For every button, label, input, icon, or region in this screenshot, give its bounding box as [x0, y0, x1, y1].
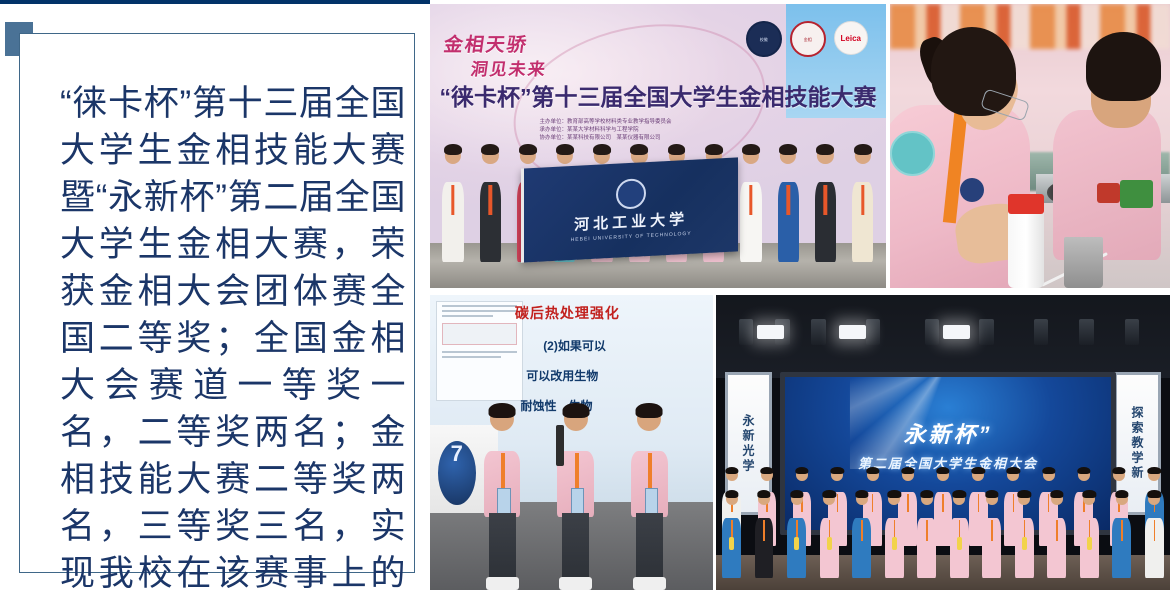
person-figure — [1078, 493, 1100, 579]
person-figure — [883, 493, 905, 579]
person-figure — [981, 493, 1003, 579]
microphone-icon — [556, 425, 564, 466]
person-figure — [1143, 493, 1165, 579]
person-figure — [721, 493, 743, 579]
person-figure — [737, 147, 765, 262]
backdrop-slogan-line2: 洞见未来 — [469, 55, 549, 80]
photo-sample-preparation[interactable] — [890, 4, 1170, 288]
stage-light-beam — [839, 325, 866, 340]
crowd-front-row — [716, 493, 1170, 579]
red-clamp — [1097, 183, 1119, 203]
person-figure — [851, 493, 873, 579]
backdrop-slogan-line1: 金相天骄 — [442, 30, 530, 57]
wash-bottle — [1008, 208, 1044, 288]
stage-light-beam — [943, 325, 970, 340]
photo-closing-ceremony[interactable]: 永新光学 探索教学新 永新杯” 第二届全国大学生金相大会 — [716, 295, 1170, 590]
slide-canvas: “徕卡杯”第十三届全国大学生金相技能大赛暨“永新杯”第二届全国大学生金相大赛，荣… — [0, 0, 1170, 590]
person-figure — [948, 493, 970, 579]
person-figure — [786, 493, 808, 579]
ceremony-crowd — [716, 431, 1170, 579]
person-figure — [753, 493, 775, 579]
slide-heading-text: 碳后热处理强化 — [515, 303, 620, 323]
achievement-body-text: “徕卡杯”第十三届全国大学生金相技能大赛暨“永新杯”第二届全国大学生金相大赛，荣… — [60, 80, 406, 590]
person-figure — [1046, 493, 1068, 579]
text-panel: “徕卡杯”第十三届全国大学生金相技能大赛暨“永新杯”第二届全国大学生金相大赛，荣… — [19, 33, 415, 573]
person-figure — [849, 147, 877, 262]
slide-line-2: (2)如果可以 — [543, 337, 606, 354]
person-figure — [811, 147, 839, 262]
slide-document-thumbnail — [436, 301, 523, 401]
person-figure — [1013, 493, 1035, 579]
person-figure — [916, 493, 938, 579]
student-background-figure — [1058, 32, 1170, 259]
leica-logo: Leica — [834, 21, 868, 55]
person-figure — [476, 147, 504, 262]
slide-line-3: 可以改用生物 — [526, 367, 598, 384]
university-flag: 河北工业大学 HEBEI UNIVERSITY OF TECHNOLOGY — [521, 157, 738, 262]
beaker — [1064, 237, 1103, 288]
presenter-figure — [478, 407, 526, 590]
podium-logo: 7 — [438, 441, 476, 505]
person-figure — [818, 493, 840, 579]
top-accent-rule — [0, 0, 430, 4]
photo-grid: 校徽 金相 Leica 金相天骄 洞见未来 “徕卡杯”第十三届全国大学生金相技能… — [430, 4, 1170, 590]
person-figure — [1111, 493, 1133, 579]
photo-group-with-flag[interactable]: 校徽 金相 Leica 金相天骄 洞见未来 “徕卡杯”第十三届全国大学生金相技能… — [430, 4, 886, 288]
stage-light-beam — [757, 325, 784, 340]
person-figure — [439, 147, 467, 262]
green-clamp — [1120, 180, 1154, 208]
backdrop-logo-row: 校徽 金相 Leica — [746, 21, 868, 57]
university-flag-seal-icon — [616, 179, 646, 211]
wash-bottle-cap — [1008, 194, 1044, 214]
shoulder-badge-icon — [890, 131, 935, 176]
organizer-line-1: 主办单位：教育部高等学校材料类专业教学指导委员会 — [539, 118, 785, 126]
backdrop-main-title: “徕卡杯”第十三届全国大学生金相技能大赛 — [439, 78, 877, 112]
person-figure — [774, 147, 802, 262]
university-seal-logo: 校徽 — [746, 21, 782, 57]
photo-student-defence[interactable]: 碳后热处理强化 (2)如果可以 可以改用生物 耐蚀性 生物 7 — [430, 295, 713, 590]
presenter-figure — [625, 407, 673, 590]
red-seal-logo: 金相 — [790, 21, 826, 57]
